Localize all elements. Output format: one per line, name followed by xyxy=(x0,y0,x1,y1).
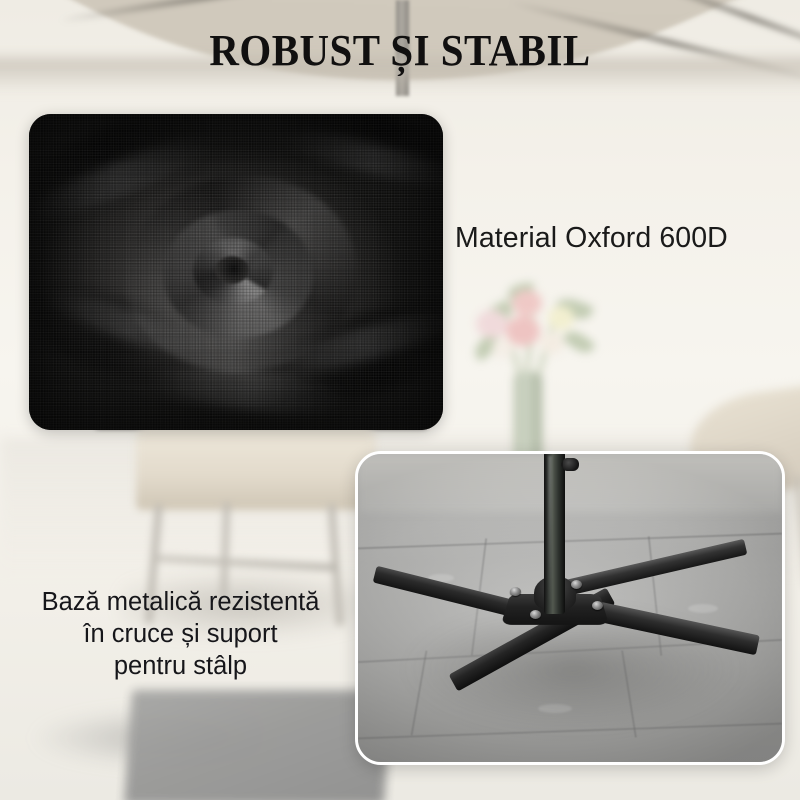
base-caption-line-1: Bază metalică rezistentă xyxy=(8,586,353,618)
base-feature-caption: Bază metalică rezistentă în cruce și sup… xyxy=(8,586,353,682)
pole-highlight xyxy=(548,456,552,606)
grey-block xyxy=(124,690,392,800)
base-caption-line-2: în cruce și suport xyxy=(8,618,353,650)
fabric-feature-label: Material Oxford 600D xyxy=(455,222,800,255)
page-title: ROBUST ȘI STABIL xyxy=(28,25,772,76)
fabric-vignette xyxy=(29,114,443,430)
base-arm-right-back xyxy=(559,539,748,597)
pole-locking-knob xyxy=(563,458,579,471)
flower-vase xyxy=(452,276,632,476)
cross-base-assembly xyxy=(358,454,782,762)
hub-bolt xyxy=(571,580,582,589)
base-photo-panel xyxy=(355,451,785,765)
fabric-photo-panel xyxy=(29,114,443,430)
hub-bolt xyxy=(510,587,521,596)
infographic-canvas: ROBUST ȘI STABIL Material Oxford 600D xyxy=(0,0,800,800)
base-caption-line-3: pentru stâlp xyxy=(8,650,353,682)
hub-bolt xyxy=(530,610,541,619)
hub-bolt xyxy=(592,601,603,610)
